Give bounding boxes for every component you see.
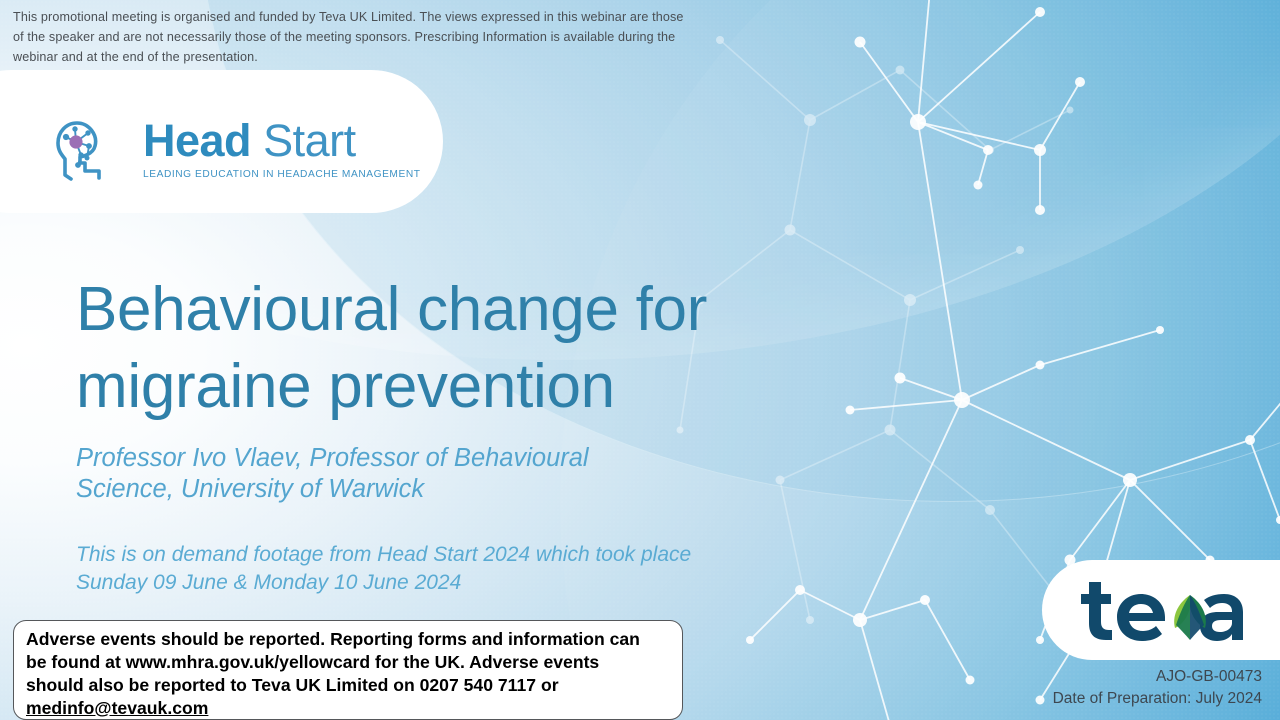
on-demand-line-2: Sunday 09 June & Monday 10 June 2024 bbox=[76, 569, 816, 597]
speaker-line-1: Professor Ivo Vlaev, Professor of Behavi… bbox=[76, 443, 716, 474]
teva-leaf-icon bbox=[1174, 595, 1206, 640]
teva-logo bbox=[1075, 578, 1245, 644]
adverse-events-email-link[interactable]: medinfo@tevauk.com bbox=[26, 697, 670, 720]
on-demand-notice: This is on demand footage from Head Star… bbox=[76, 541, 816, 597]
footer-codes: AJO-GB-00473 Date of Preparation: July 2… bbox=[1053, 666, 1262, 710]
date-of-preparation: Date of Preparation: July 2024 bbox=[1053, 688, 1262, 710]
page-title: Behavioural change for migraine preventi… bbox=[76, 272, 836, 426]
adverse-events-line-3: should also be reported to Teva UK Limit… bbox=[26, 674, 670, 697]
speaker-line-2: Science, University of Warwick bbox=[76, 474, 716, 505]
head-start-wordmark: Head Start LEADING EDUCATION IN HEADACHE… bbox=[143, 118, 421, 180]
logo-word-start: Start bbox=[263, 115, 356, 166]
adverse-events-box: Adverse events should be reported. Repor… bbox=[13, 620, 683, 720]
head-network-icon bbox=[55, 113, 129, 185]
adverse-events-line-2: be found at www.mhra.gov.uk/yellowcard f… bbox=[26, 651, 670, 674]
job-code: AJO-GB-00473 bbox=[1053, 666, 1262, 688]
promotional-disclaimer-text: This promotional meeting is organised an… bbox=[13, 8, 685, 68]
title-line-1: Behavioural change for bbox=[76, 272, 836, 349]
head-start-word: Head Start bbox=[143, 118, 421, 163]
adverse-events-line-1: Adverse events should be reported. Repor… bbox=[26, 628, 670, 651]
title-line-2: migraine prevention bbox=[76, 349, 836, 426]
logo-word-head: Head bbox=[143, 115, 251, 166]
slide-canvas: This promotional meeting is organised an… bbox=[0, 0, 1280, 720]
adverse-events-text: Adverse events should be reported. Repor… bbox=[26, 628, 670, 719]
head-start-logo: Head Start LEADING EDUCATION IN HEADACHE… bbox=[55, 108, 405, 190]
speaker-subtitle: Professor Ivo Vlaev, Professor of Behavi… bbox=[76, 443, 716, 505]
on-demand-line-1: This is on demand footage from Head Star… bbox=[76, 541, 816, 569]
head-start-tagline: LEADING EDUCATION IN HEADACHE MANAGEMENT bbox=[143, 169, 421, 180]
